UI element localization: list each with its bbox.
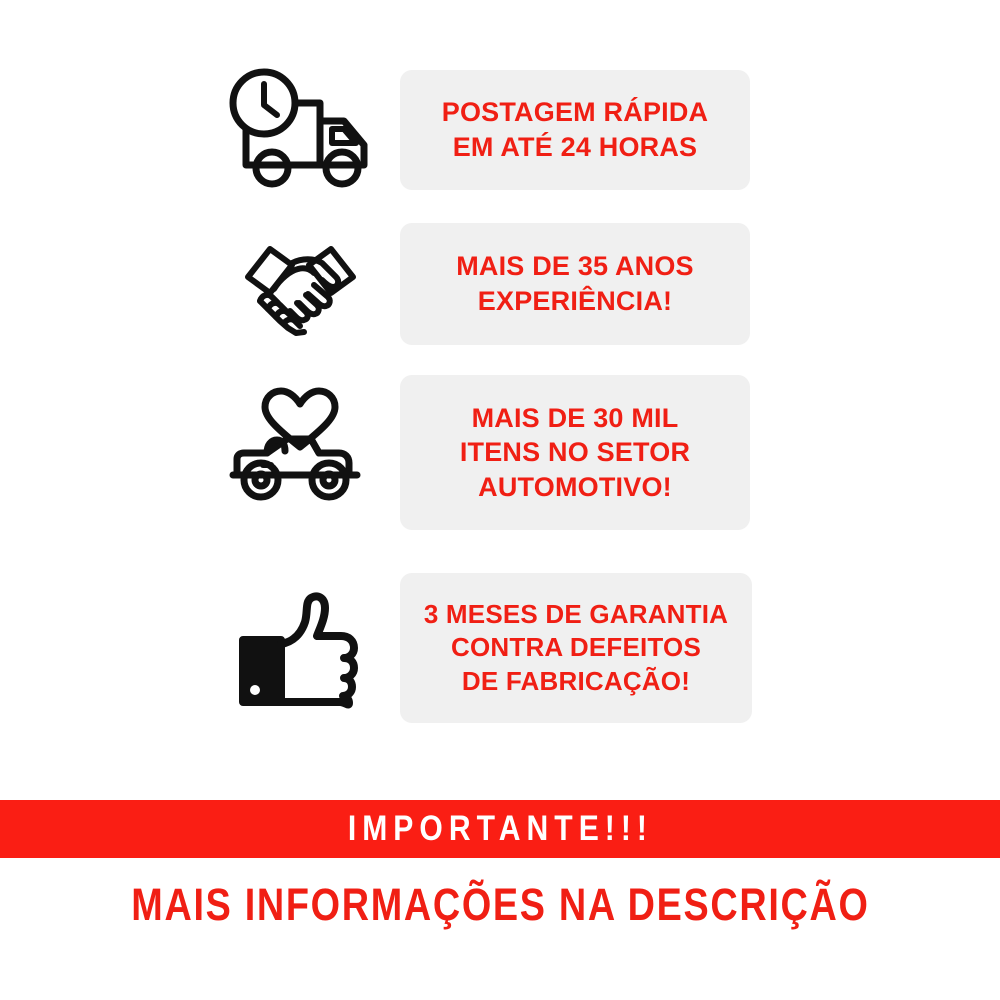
important-banner-label: IMPORTANTE!!! [347,809,652,849]
feature-text-box: POSTAGEM RÁPIDA EM ATÉ 24 HORAS [400,70,750,190]
feature-line: MAIS DE 30 MIL [472,401,679,436]
feature-line: POSTAGEM RÁPIDA [442,95,709,130]
description-note: MAIS INFORMAÇÕES NA DESCRIÇÃO [0,875,1000,935]
description-note-label: MAIS INFORMAÇÕES NA DESCRIÇÃO [131,879,869,931]
delivery-truck-clock-icon [200,65,400,195]
feature-row: MAIS DE 35 ANOS EXPERIÊNCIA! [200,223,800,345]
handshake-icon [200,229,400,339]
feature-line: ITENS NO SETOR [460,435,690,470]
feature-line: CONTRA DEFEITOS [451,631,701,664]
feature-row: MAIS DE 30 MIL ITENS NO SETOR AUTOMOTIVO… [200,375,800,530]
car-heart-icon [200,383,400,523]
feature-line: EXPERIÊNCIA! [478,284,672,319]
feature-line: MAIS DE 35 ANOS [456,249,694,284]
feature-text-box: 3 MESES DE GARANTIA CONTRA DEFEITOS DE F… [400,573,752,723]
feature-list: POSTAGEM RÁPIDA EM ATÉ 24 HORAS [0,0,1000,780]
feature-line: AUTOMOTIVO! [478,470,672,505]
feature-line: 3 MESES DE GARANTIA [424,598,728,631]
feature-text-box: MAIS DE 35 ANOS EXPERIÊNCIA! [400,223,750,345]
feature-line: DE FABRICAÇÃO! [462,665,690,698]
thumbs-up-icon [200,578,400,718]
feature-text-box: MAIS DE 30 MIL ITENS NO SETOR AUTOMOTIVO… [400,375,750,530]
feature-line: EM ATÉ 24 HORAS [453,130,698,165]
feature-row: 3 MESES DE GARANTIA CONTRA DEFEITOS DE F… [200,573,800,723]
feature-row: POSTAGEM RÁPIDA EM ATÉ 24 HORAS [200,70,800,190]
important-banner: IMPORTANTE!!! [0,800,1000,858]
